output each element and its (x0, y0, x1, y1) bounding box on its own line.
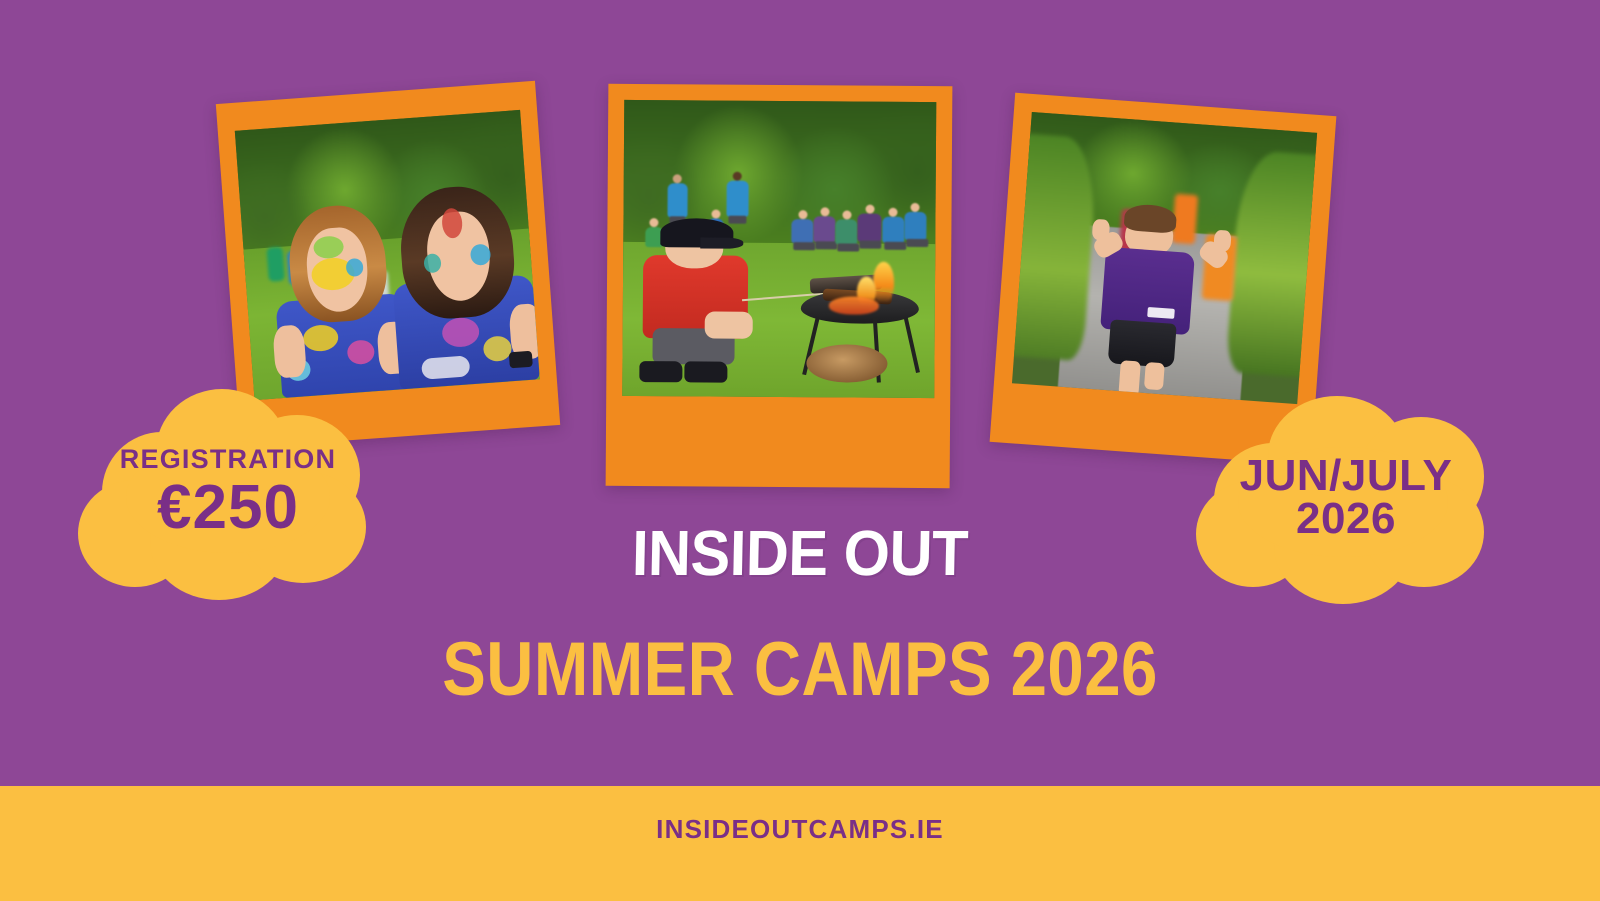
photo-card-campfire (606, 84, 953, 488)
shirt-logo (1147, 307, 1175, 319)
footer-bar: INSIDEOUTCAMPS.IE (0, 786, 1600, 901)
camp-leader (635, 218, 761, 385)
leader-shoe (640, 361, 683, 383)
tree-stump (806, 344, 887, 383)
photo-runner (1012, 112, 1317, 404)
camp-months: JUN/JULY (1240, 454, 1453, 499)
photo-campfire (622, 100, 936, 398)
photo-runner-scene (1012, 112, 1317, 404)
leader-shoe (685, 361, 728, 383)
leader-arm (705, 312, 753, 339)
photo-campfire-scene (622, 100, 936, 398)
leader-cap-brim (701, 237, 744, 249)
background-leader (726, 181, 748, 217)
embers (829, 297, 879, 315)
photo-paint-party (235, 110, 540, 400)
background-child (835, 220, 857, 245)
background-child (792, 219, 814, 243)
background-child (882, 217, 904, 243)
runner-fist-left (1092, 218, 1110, 241)
child-right (382, 169, 540, 390)
runner-leg (1118, 360, 1141, 397)
brand-title: INSIDE OUT (55, 516, 1544, 590)
runner-shorts (1108, 320, 1176, 368)
website-url[interactable]: INSIDEOUTCAMPS.IE (0, 814, 1600, 845)
runner-hair (1123, 203, 1178, 234)
runner-fist-right (1214, 229, 1232, 252)
necklace (421, 355, 471, 380)
poster-canvas: REGISTRATION €250 JUN/JULY 2026 INSIDE O… (0, 0, 1600, 901)
registration-label: REGISTRATION (120, 446, 336, 474)
flame (872, 261, 894, 303)
hero-runner (1086, 193, 1226, 398)
page-headline: SUMMER CAMPS 2026 (112, 626, 1488, 713)
runner-leg (1144, 362, 1165, 391)
background-child (857, 214, 881, 242)
photo-paint-party-scene (235, 110, 540, 400)
background-child (904, 211, 926, 239)
background-child (814, 217, 836, 243)
wristwatch (509, 350, 533, 368)
background-leader (667, 183, 687, 217)
